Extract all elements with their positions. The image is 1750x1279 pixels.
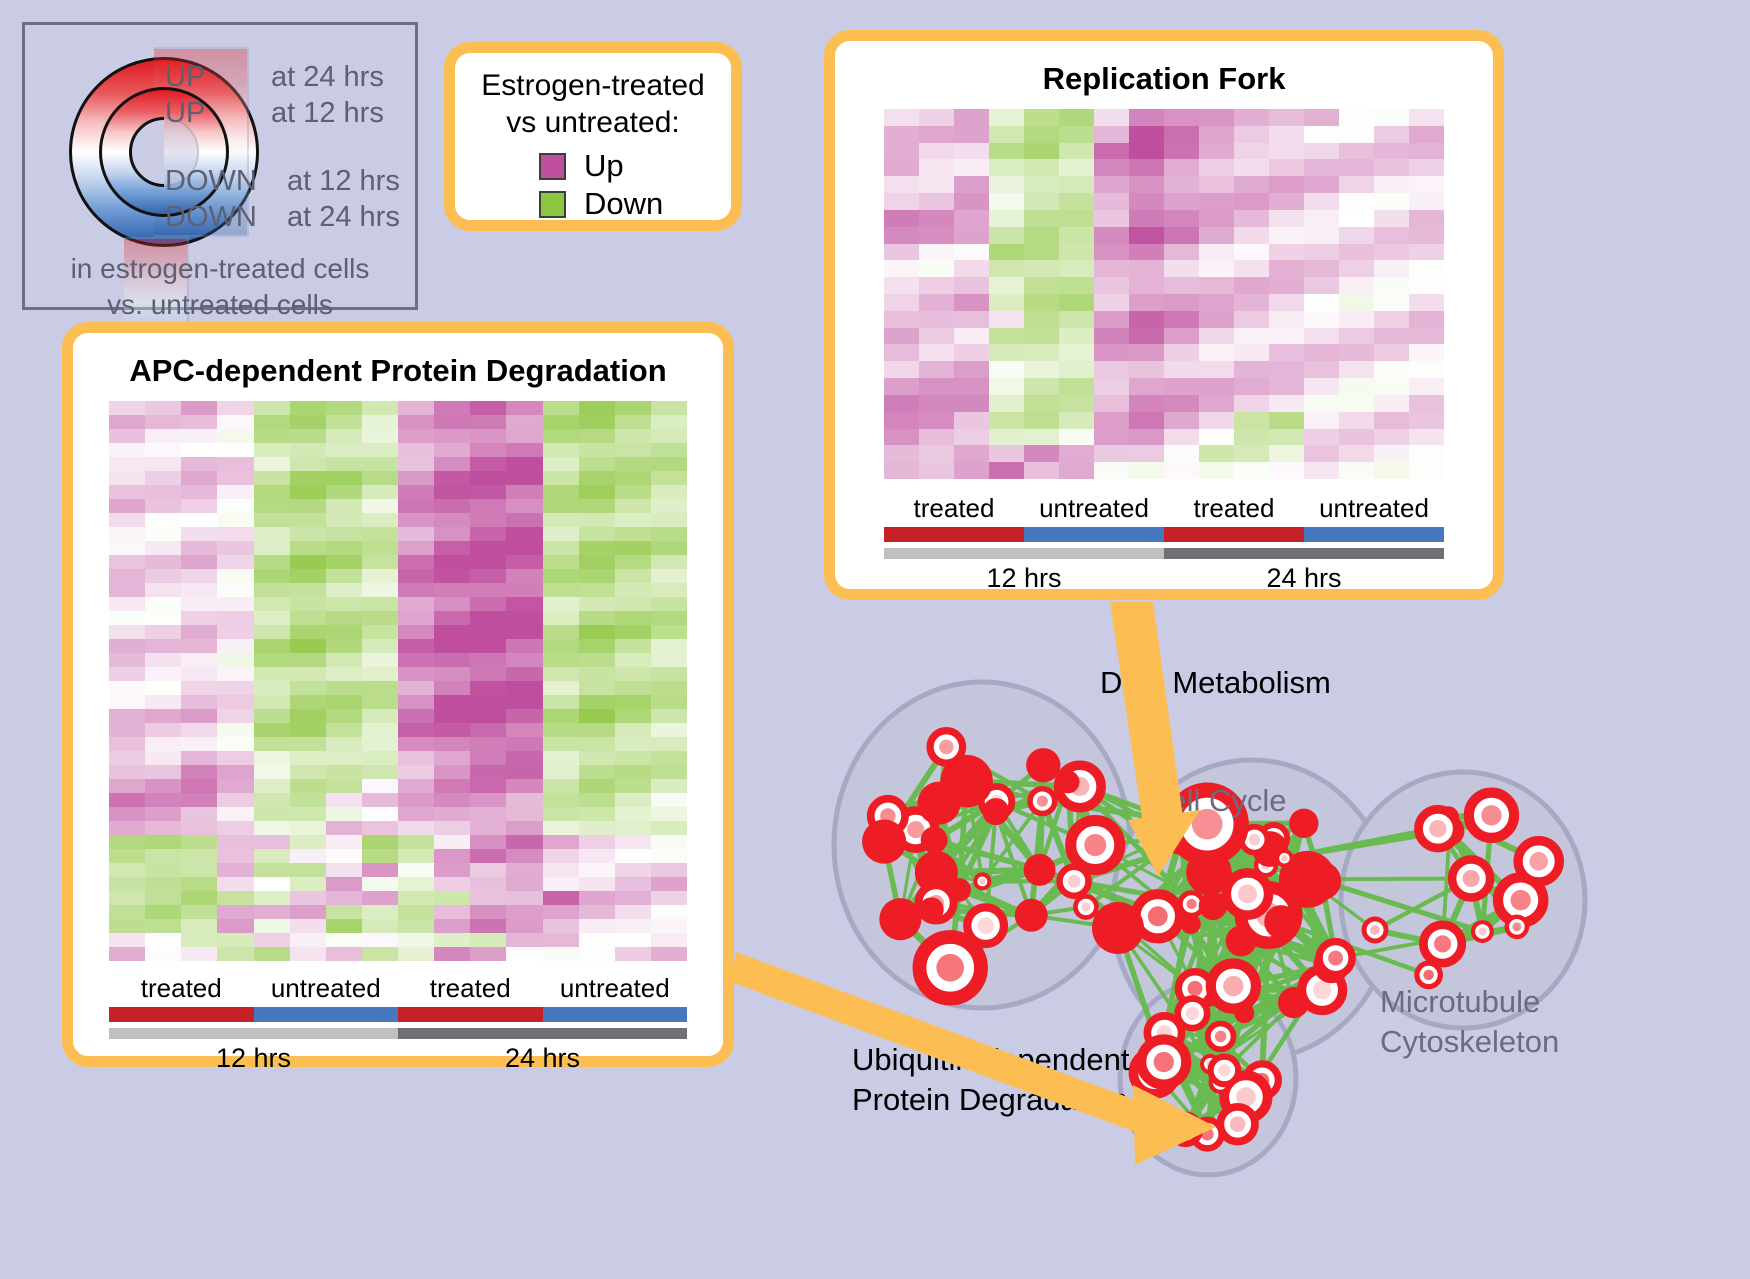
network-node-core <box>1434 935 1451 952</box>
replication-fork-panel: Replication Fork treated untreated treat… <box>824 30 1504 600</box>
axis-bar-untreated <box>254 1007 399 1022</box>
axis-time-label-24: 24 hrs <box>398 1043 687 1074</box>
network-node <box>1024 854 1056 886</box>
legend-items: Up Down <box>455 147 731 223</box>
legend-swatch-down-icon <box>539 191 566 218</box>
network-node <box>1015 899 1048 932</box>
network-node-core <box>1328 951 1343 966</box>
cluster-label-microtubule: Microtubule Cytoskeleton <box>1380 982 1559 1062</box>
axis-group-label: untreated <box>543 973 688 1004</box>
apc-axis-treatment-bar <box>109 1007 687 1022</box>
network-node-core <box>979 878 985 884</box>
network-node-core <box>1068 875 1081 888</box>
axis-bar-24hrs <box>398 1028 687 1039</box>
apc-degradation-panel: APC-dependent Protein Degradation treate… <box>62 322 734 1067</box>
network-node-core <box>1215 1031 1227 1043</box>
network-node <box>1026 748 1060 782</box>
axis-time-label-12: 12 hrs <box>884 563 1164 594</box>
axis-time-label-24: 24 hrs <box>1164 563 1444 594</box>
axis-group-label: treated <box>1164 493 1304 524</box>
axis-group-label: treated <box>398 973 543 1004</box>
axis-bar-untreated <box>543 1007 688 1022</box>
network-node-core <box>1084 834 1106 856</box>
network-node-core <box>1529 852 1548 871</box>
network-node-core <box>936 954 964 982</box>
network-node-core <box>1423 970 1434 981</box>
axis-group-label: treated <box>109 973 254 1004</box>
network-svg <box>800 610 1750 1279</box>
replication-fork-title: Replication Fork <box>835 61 1493 97</box>
network-node-core <box>1081 902 1090 911</box>
axis-bar-24hrs <box>1164 548 1444 559</box>
axis-group-label: untreated <box>254 973 399 1004</box>
network-node <box>1199 892 1228 921</box>
network-node-core <box>1481 805 1501 825</box>
key-direction-down-12: DOWN <box>165 165 257 198</box>
key-time-down-12: at 12 hrs <box>287 165 400 198</box>
network-node <box>1057 771 1080 794</box>
network-node <box>940 755 992 807</box>
replication-fork-heatmap <box>884 109 1444 479</box>
replication-axis-time-labels: 12 hrs 24 hrs <box>884 563 1444 594</box>
legend-title-line2: vs untreated: <box>455 104 731 141</box>
network-node-core <box>1370 925 1380 935</box>
cluster-label-microtubule-line2: Cytoskeleton <box>1380 1022 1559 1062</box>
estrogen-legend-panel: Estrogen-treated vs untreated: Up Down <box>444 42 742 231</box>
cluster-label-ubiquitin: Ubiquitin-dependent Protein Degradation <box>852 1040 1130 1120</box>
replication-axis-time-bar <box>884 548 1444 559</box>
cluster-label-dna-metabolism: DNA Metabolism <box>1100 665 1331 701</box>
network-node <box>919 897 944 922</box>
replication-fork-axis: treated untreated treated untreated 12 h… <box>884 493 1444 594</box>
legend-item-down: Down <box>539 185 731 223</box>
cluster-label-cell-cycle: Cell Cycle <box>1147 783 1287 819</box>
axis-time-label-12: 12 hrs <box>109 1043 398 1074</box>
network-node-core <box>1512 922 1521 931</box>
key-time-up-24: at 24 hrs <box>271 61 384 94</box>
apc-axis-time-labels: 12 hrs 24 hrs <box>109 1043 687 1074</box>
colour-key-box: UP at 24 hrs UP at 12 hrs DOWN at 12 hrs… <box>22 22 418 310</box>
network-node-core <box>1478 927 1486 935</box>
apc-degradation-heatmap <box>109 401 687 961</box>
key-time-up-12: at 12 hrs <box>271 97 384 130</box>
network-node-core <box>1429 820 1446 837</box>
network-node-core <box>1230 1116 1246 1132</box>
legend-label-up: Up <box>584 148 624 184</box>
network-node <box>1092 902 1144 954</box>
network-node-core <box>1179 1123 1192 1136</box>
network-node-core <box>939 740 954 755</box>
network-node-core <box>1154 1052 1174 1072</box>
legend-swatch-up-icon <box>539 153 566 180</box>
key-direction-up-12: UP <box>165 97 205 130</box>
axis-bar-treated <box>1164 527 1304 542</box>
network-node-core <box>1186 1007 1199 1020</box>
axis-bar-treated <box>884 527 1024 542</box>
axis-bar-untreated <box>1304 527 1444 542</box>
apc-axis-time-bar <box>109 1028 687 1039</box>
network-cluster-diagram: DNA Metabolism Cell Cycle Microtubule Cy… <box>800 610 1750 1279</box>
cluster-label-ubiquitin-line1: Ubiquitin-dependent <box>852 1040 1130 1080</box>
figure-canvas: UP at 24 hrs UP at 12 hrs DOWN at 12 hrs… <box>0 0 1750 1279</box>
network-node <box>862 820 906 864</box>
network-node <box>1289 809 1318 838</box>
axis-group-label: untreated <box>1304 493 1444 524</box>
apc-degradation-axis: treated untreated treated untreated 12 h… <box>109 973 687 1074</box>
network-node <box>879 898 921 940</box>
legend-title: Estrogen-treated vs untreated: <box>455 67 731 141</box>
network-node <box>1226 926 1257 957</box>
network-node-core <box>1188 981 1203 996</box>
network-node-core <box>977 917 993 933</box>
network-node <box>982 798 1009 825</box>
replication-axis-group-labels: treated untreated treated untreated <box>884 493 1444 524</box>
replication-axis-treatment-bar <box>884 527 1444 542</box>
network-node-core <box>1463 870 1480 887</box>
cluster-label-microtubule-line1: Microtubule <box>1380 982 1559 1022</box>
network-node-core <box>1223 976 1243 996</box>
axis-bar-12hrs <box>109 1028 398 1039</box>
network-node-core <box>1249 834 1261 846</box>
network-node-core <box>1148 906 1168 926</box>
network-node <box>921 827 948 854</box>
axis-bar-treated <box>398 1007 543 1022</box>
colour-key-footer: in estrogen-treated cells vs. untreated … <box>25 251 415 323</box>
cluster-label-ubiquitin-line2: Protein Degradation <box>852 1080 1130 1120</box>
key-direction-down-24: DOWN <box>165 201 257 234</box>
colour-key-footer-line2: vs. untreated cells <box>25 287 415 323</box>
network-node <box>1270 932 1285 947</box>
axis-group-label: treated <box>884 493 1024 524</box>
network-node-core <box>1313 981 1331 999</box>
colour-key-footer-line1: in estrogen-treated cells <box>25 251 415 287</box>
network-node-core <box>1037 796 1048 807</box>
apc-degradation-title: APC-dependent Protein Degradation <box>73 353 723 389</box>
legend-item-up: Up <box>539 147 731 185</box>
axis-bar-treated <box>109 1007 254 1022</box>
network-node-core <box>1510 890 1530 910</box>
legend-title-line1: Estrogen-treated <box>455 67 731 104</box>
axis-bar-12hrs <box>884 548 1164 559</box>
axis-bar-untreated <box>1024 527 1164 542</box>
key-direction-up-24: UP <box>165 61 205 94</box>
axis-group-label: untreated <box>1024 493 1164 524</box>
apc-axis-group-labels: treated untreated treated untreated <box>109 973 687 1004</box>
network-node <box>1181 914 1201 934</box>
legend-label-down: Down <box>584 186 663 222</box>
key-time-down-24: at 24 hrs <box>287 201 400 234</box>
network-node-core <box>1218 1064 1230 1076</box>
network-node-core <box>1186 899 1196 909</box>
network-node-core <box>1281 855 1288 862</box>
network-node-core <box>1238 884 1257 903</box>
